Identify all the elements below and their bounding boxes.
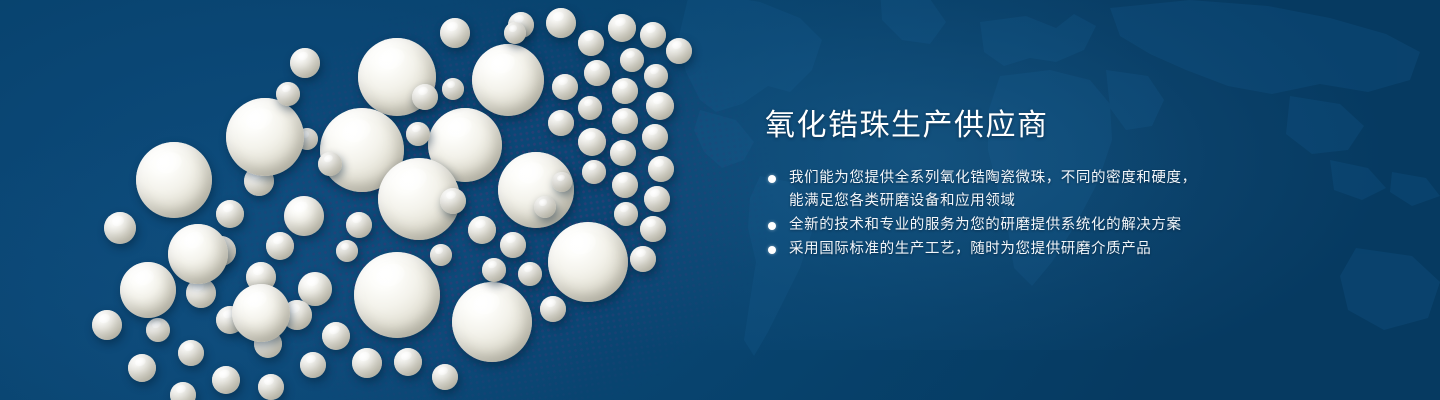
page-title: 氧化锆珠生产供应商 [765, 106, 1235, 146]
list-item: 我们能为您提供全系列氧化锆陶瓷微珠，不同的密度和硬度， 能满足您各类研磨设备和应… [765, 167, 1235, 213]
bullet-marker-icon [768, 246, 776, 254]
bullet-marker-icon [768, 175, 776, 183]
zirconia-beads-cluster [0, 0, 760, 400]
bullet-marker-icon [768, 222, 776, 230]
list-item-line1: 采用国际标准的生产工艺，随时为您提供研磨介质产品 [789, 241, 1151, 257]
list-item-line1: 全新的技术和专业的服务为您的研磨提供系统化的解决方案 [789, 217, 1182, 233]
list-item-line1: 我们能为您提供全系列氧化锆陶瓷微珠，不同的密度和硬度， [789, 170, 1197, 186]
list-item: 全新的技术和专业的服务为您的研磨提供系统化的解决方案 [765, 214, 1235, 237]
light-bloom-left [0, 120, 600, 400]
feature-list: 我们能为您提供全系列氧化锆陶瓷微珠，不同的密度和硬度， 能满足您各类研磨设备和应… [765, 167, 1235, 261]
list-item-line2: 能满足您各类研磨设备和应用领域 [789, 190, 1235, 213]
hero-banner: 氧化锆珠生产供应商 我们能为您提供全系列氧化锆陶瓷微珠，不同的密度和硬度， 能满… [0, 0, 1440, 400]
list-item: 采用国际标准的生产工艺，随时为您提供研磨介质产品 [765, 238, 1235, 261]
banner-copy: 氧化锆珠生产供应商 我们能为您提供全系列氧化锆陶瓷微珠，不同的密度和硬度， 能满… [765, 106, 1235, 262]
halftone-dot-pattern [31, 0, 849, 400]
